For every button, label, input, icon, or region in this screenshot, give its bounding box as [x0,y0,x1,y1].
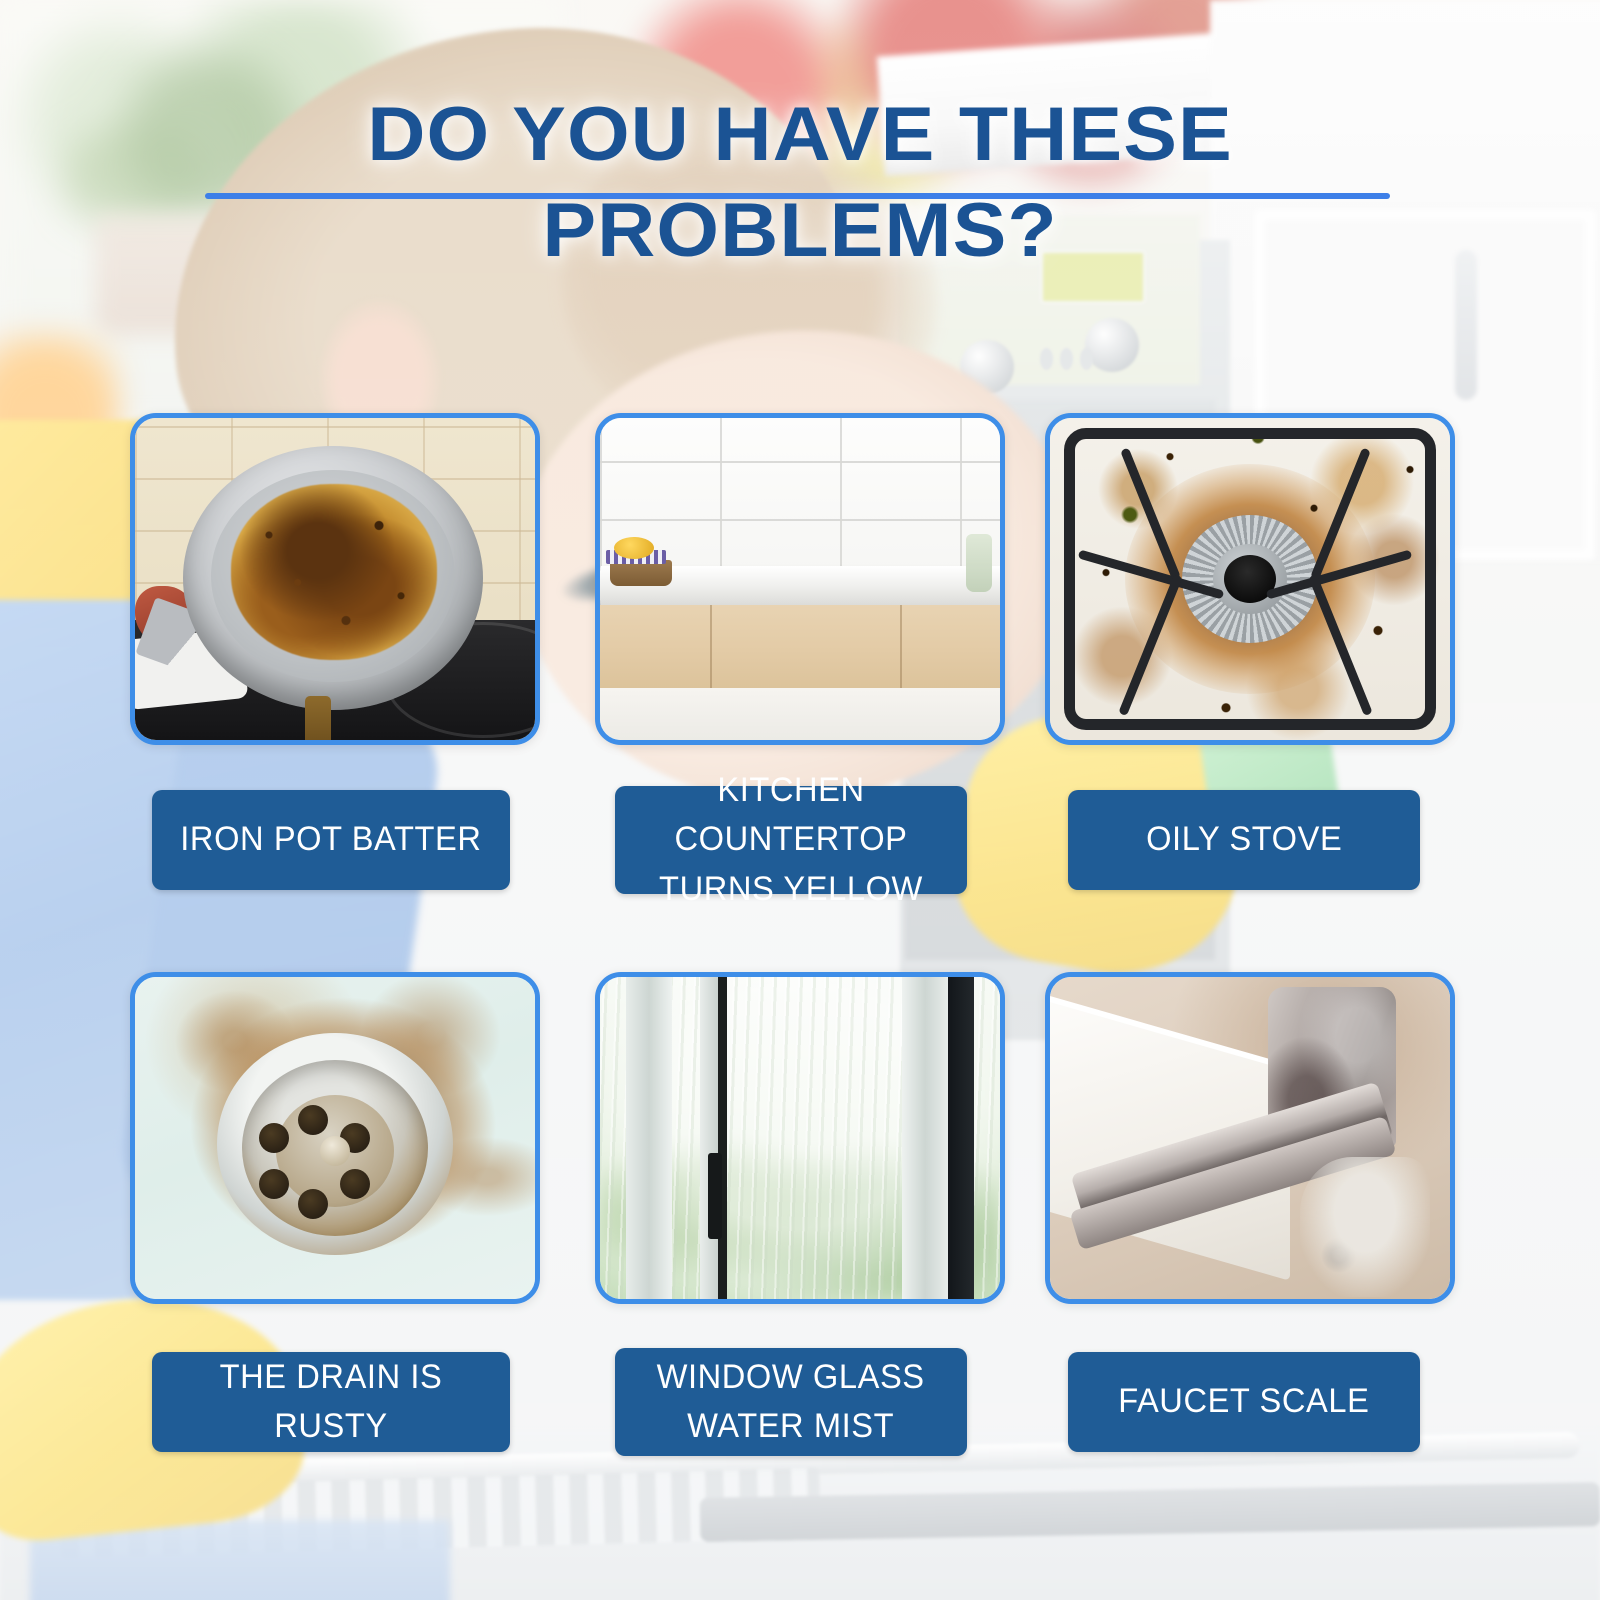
photo-oily-stove [1050,418,1450,740]
problem-label-window-mist: WINDOW GLASS WATER MIST [615,1348,967,1456]
problem-grid: IRON POT BATTER KITCHEN COUNTERTOP TURNS… [0,0,1600,1600]
problem-label-oily-stove: OILY STOVE [1068,790,1420,890]
infographic-canvas: DO YOU HAVE THESE PROBLEMS? IRON POT BAT… [0,0,1600,1600]
problem-card-faucet-scale[interactable] [1045,972,1455,1304]
photo-kitchen-countertop [600,418,1000,740]
burner-grate [1050,418,1450,740]
problem-label-iron-pot-batter: IRON POT BATTER [152,790,510,890]
photo-faucet-scale [1050,977,1450,1299]
problem-label-faucet-scale: FAUCET SCALE [1068,1352,1420,1452]
problem-card-oily-stove[interactable] [1045,413,1455,745]
problem-card-kitchen-countertop[interactable] [595,413,1005,745]
photo-burnt-pan [135,418,535,740]
photo-rusty-drain [135,977,535,1299]
problem-card-rusty-drain[interactable] [130,972,540,1304]
problem-label-kitchen-countertop: KITCHEN COUNTERTOP TURNS YELLOW [615,786,967,894]
problem-label-rusty-drain: THE DRAIN IS RUSTY [152,1352,510,1452]
problem-card-window-mist[interactable] [595,972,1005,1304]
problem-card-iron-pot-batter[interactable] [130,413,540,745]
photo-window-mist [600,977,1000,1299]
